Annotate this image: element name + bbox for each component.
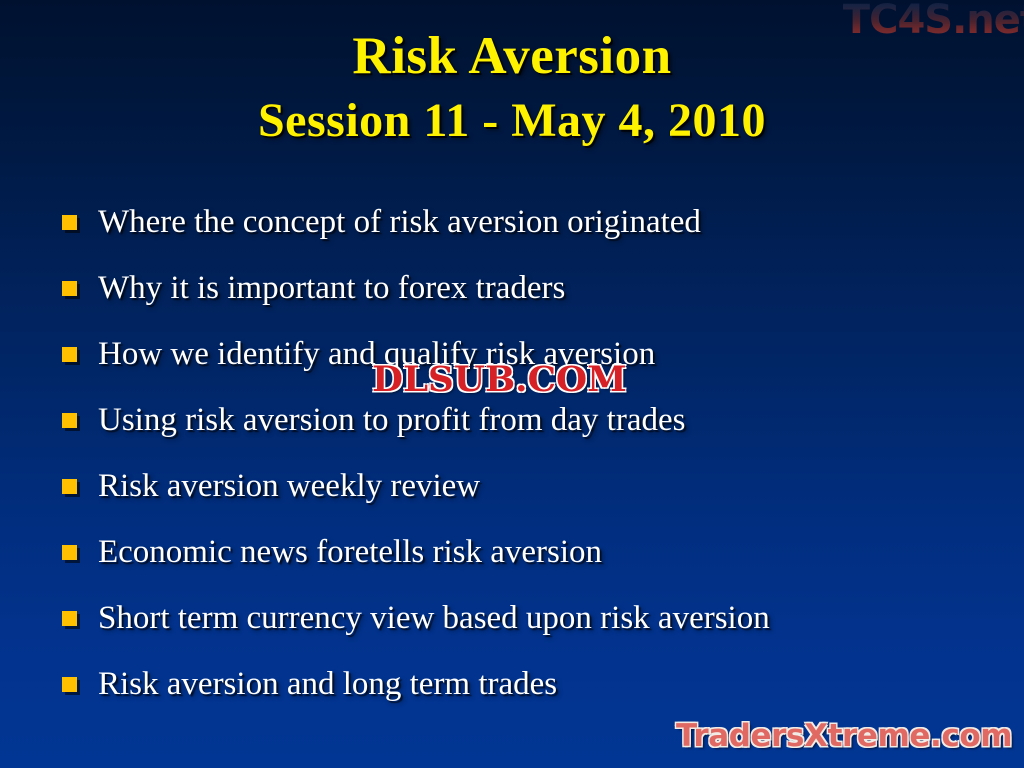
list-item: Economic news foretells risk aversion <box>62 519 1012 585</box>
bullet-item-label: Risk aversion and long term trades <box>98 666 1012 702</box>
watermark-tradersxtreme: TradersXtreme.com <box>676 719 1012 753</box>
list-item: Where the concept of risk aversion origi… <box>62 189 1012 255</box>
bullet-square-icon <box>62 281 77 296</box>
slide-title-line-2: Session 11 - May 4, 2010 <box>0 92 1024 150</box>
slide-title-block: Risk Aversion Session 11 - May 4, 2010 <box>0 26 1024 150</box>
watermark-tc4s: TC4S.net <box>843 0 1024 42</box>
presentation-slide: Risk Aversion Session 11 - May 4, 2010 W… <box>0 0 1024 768</box>
list-item: Short term currency view based upon risk… <box>62 585 1012 651</box>
bullet-square-icon <box>62 347 77 362</box>
bullet-item-label: Using risk aversion to profit from day t… <box>98 402 1012 438</box>
bullet-item-label: Risk aversion weekly review <box>98 468 1012 504</box>
bullet-square-icon <box>62 215 77 230</box>
list-item: Why it is important to forex traders <box>62 255 1012 321</box>
slide-bullet-list: Where the concept of risk aversion origi… <box>62 189 1012 717</box>
bullet-square-icon <box>62 611 77 626</box>
bullet-item-label: Short term currency view based upon risk… <box>98 600 1012 636</box>
bullet-square-icon <box>62 545 77 560</box>
bullet-item-label: Economic news foretells risk aversion <box>98 534 1012 570</box>
bullet-item-label: Where the concept of risk aversion origi… <box>98 204 1012 240</box>
watermark-dlsub: DLSUB.COM <box>372 361 627 398</box>
bullet-square-icon <box>62 677 77 692</box>
bullet-square-icon <box>62 413 77 428</box>
bullet-square-icon <box>62 479 77 494</box>
list-item: Risk aversion weekly review <box>62 453 1012 519</box>
list-item: Risk aversion and long term trades <box>62 651 1012 717</box>
bullet-item-label: Why it is important to forex traders <box>98 270 1012 306</box>
